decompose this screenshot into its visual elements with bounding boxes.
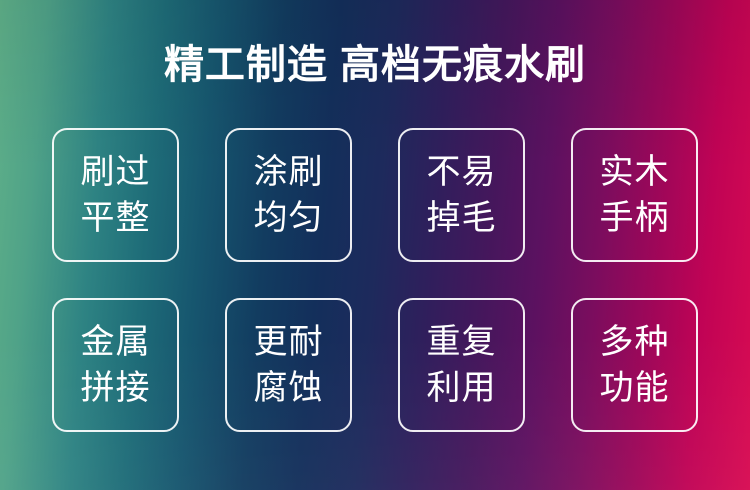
feature-box-3-line-1: 不易 xyxy=(427,149,497,195)
feature-box-3[interactable]: 不易 掉毛 xyxy=(398,128,525,262)
feature-box-5-line-2: 拼接 xyxy=(81,365,151,411)
feature-box-8[interactable]: 多种 功能 xyxy=(571,298,698,432)
feature-box-6[interactable]: 更耐 腐蚀 xyxy=(225,298,352,432)
feature-box-8-line-2: 功能 xyxy=(600,365,670,411)
feature-box-5-line-1: 金属 xyxy=(81,319,151,365)
feature-box-6-line-1: 更耐 xyxy=(254,319,324,365)
feature-box-7-line-2: 利用 xyxy=(427,365,497,411)
feature-box-1-line-2: 平整 xyxy=(81,195,151,241)
feature-box-8-line-1: 多种 xyxy=(600,319,670,365)
feature-box-3-line-2: 掉毛 xyxy=(427,195,497,241)
feature-box-2[interactable]: 涂刷 均匀 xyxy=(225,128,352,262)
promo-banner: 精工制造 高档无痕水刷 刷过 平整 涂刷 均匀 不易 掉毛 实木 手柄 金属 xyxy=(0,0,750,490)
feature-box-4[interactable]: 实木 手柄 xyxy=(571,128,698,262)
feature-box-5[interactable]: 金属 拼接 xyxy=(52,298,179,432)
feature-box-1-line-1: 刷过 xyxy=(81,149,151,195)
feature-box-4-line-1: 实木 xyxy=(600,149,670,195)
feature-box-2-line-2: 均匀 xyxy=(254,195,324,241)
feature-box-4-line-2: 手柄 xyxy=(600,195,670,241)
feature-row-1: 刷过 平整 涂刷 均匀 不易 掉毛 实木 手柄 xyxy=(52,128,699,262)
feature-grid: 刷过 平整 涂刷 均匀 不易 掉毛 实木 手柄 金属 拼接 更耐 xyxy=(52,128,699,432)
feature-box-7[interactable]: 重复 利用 xyxy=(398,298,525,432)
feature-box-1[interactable]: 刷过 平整 xyxy=(52,128,179,262)
feature-box-6-line-2: 腐蚀 xyxy=(254,365,324,411)
page-title: 精工制造 高档无痕水刷 xyxy=(0,40,750,90)
feature-row-2: 金属 拼接 更耐 腐蚀 重复 利用 多种 功能 xyxy=(52,298,699,432)
feature-box-2-line-1: 涂刷 xyxy=(254,149,324,195)
feature-box-7-line-1: 重复 xyxy=(427,319,497,365)
